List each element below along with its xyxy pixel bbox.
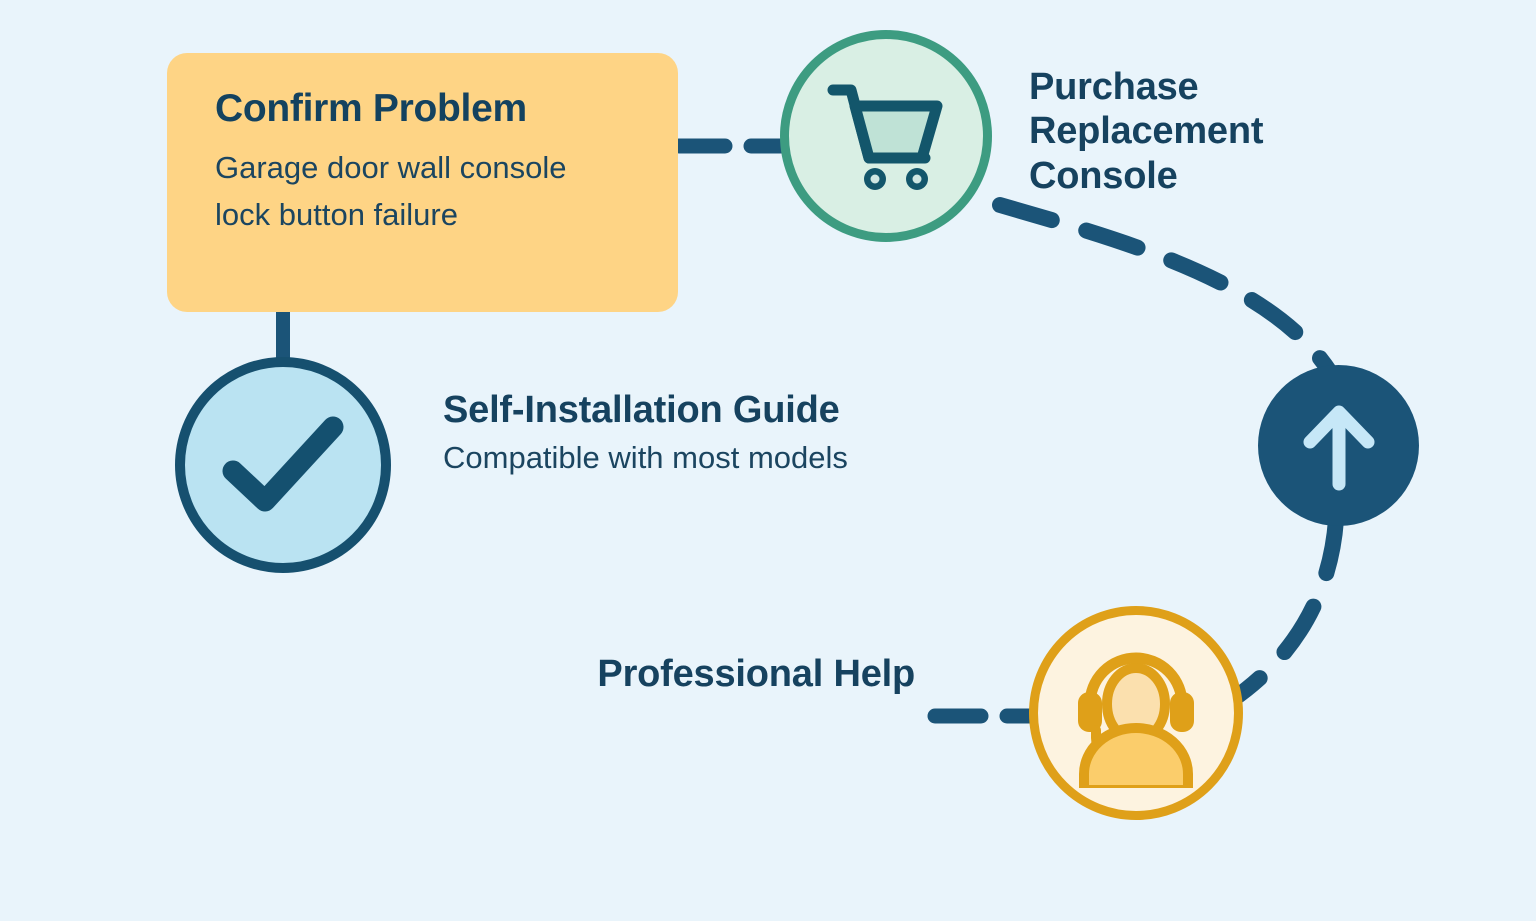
- professional-help-node[interactable]: [1029, 606, 1243, 820]
- purchase-replacement-console-node[interactable]: [780, 30, 992, 242]
- professional-help-title: Professional Help: [560, 652, 915, 696]
- diagram-canvas: Confirm Problem Garage door wall console…: [0, 0, 1536, 921]
- connector-escalate-to-professional-help: [1232, 520, 1336, 700]
- purchase-replacement-console-label: Purchase Replacement Console: [1029, 65, 1399, 198]
- check-mark-icon: [213, 405, 353, 525]
- self-installation-guide-subtitle: Compatible with most models: [443, 438, 1003, 478]
- self-installation-guide-title: Self-Installation Guide: [443, 388, 1003, 432]
- connector-purchase-to-escalate: [1000, 205, 1330, 372]
- self-installation-guide-node[interactable]: [175, 357, 391, 573]
- self-installation-guide-label: Self-Installation Guide Compatible with …: [443, 388, 1003, 479]
- shopping-cart-icon: [825, 80, 947, 192]
- professional-help-label: Professional Help: [560, 652, 915, 696]
- confirm-problem-description: Garage door wall console lock button fai…: [215, 144, 595, 238]
- support-agent-headset-icon: [1066, 638, 1206, 788]
- escalate-node[interactable]: [1258, 365, 1419, 526]
- confirm-problem-title: Confirm Problem: [215, 89, 638, 130]
- arrow-up-icon: [1300, 400, 1378, 492]
- purchase-replacement-console-title: Purchase Replacement Console: [1029, 65, 1399, 198]
- confirm-problem-card[interactable]: Confirm Problem Garage door wall console…: [167, 53, 678, 312]
